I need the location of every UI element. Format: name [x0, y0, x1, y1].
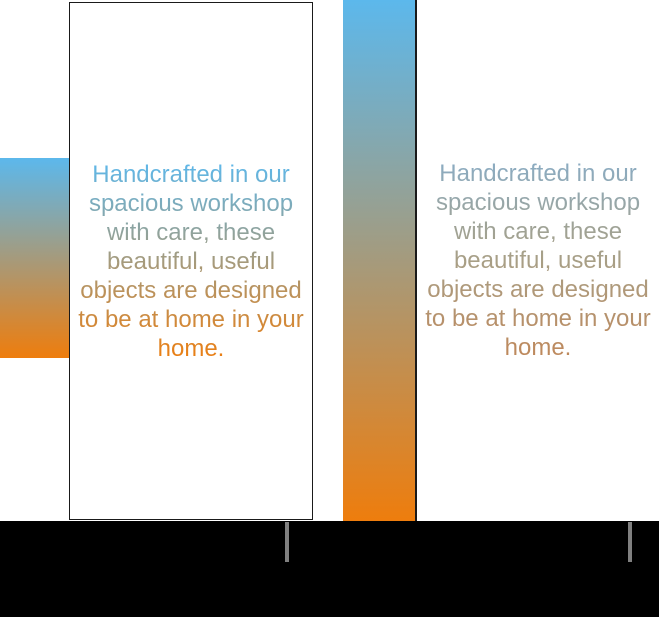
- text-card-right: Handcrafted in our spacious workshop wit…: [415, 0, 659, 521]
- gradient-swatch-short: [0, 158, 69, 358]
- scroll-tick-left[interactable]: [285, 522, 289, 562]
- gradient-swatch-tall: [343, 0, 415, 521]
- page-canvas: Handcrafted in our spacious workshop wit…: [0, 0, 659, 617]
- scroll-tick-right[interactable]: [628, 522, 632, 562]
- gradient-text-right: Handcrafted in our spacious workshop wit…: [417, 159, 659, 362]
- bottom-strip: [0, 521, 659, 617]
- text-card-left: Handcrafted in our spacious workshop wit…: [69, 2, 313, 520]
- gradient-text-left: Handcrafted in our spacious workshop wit…: [70, 160, 312, 363]
